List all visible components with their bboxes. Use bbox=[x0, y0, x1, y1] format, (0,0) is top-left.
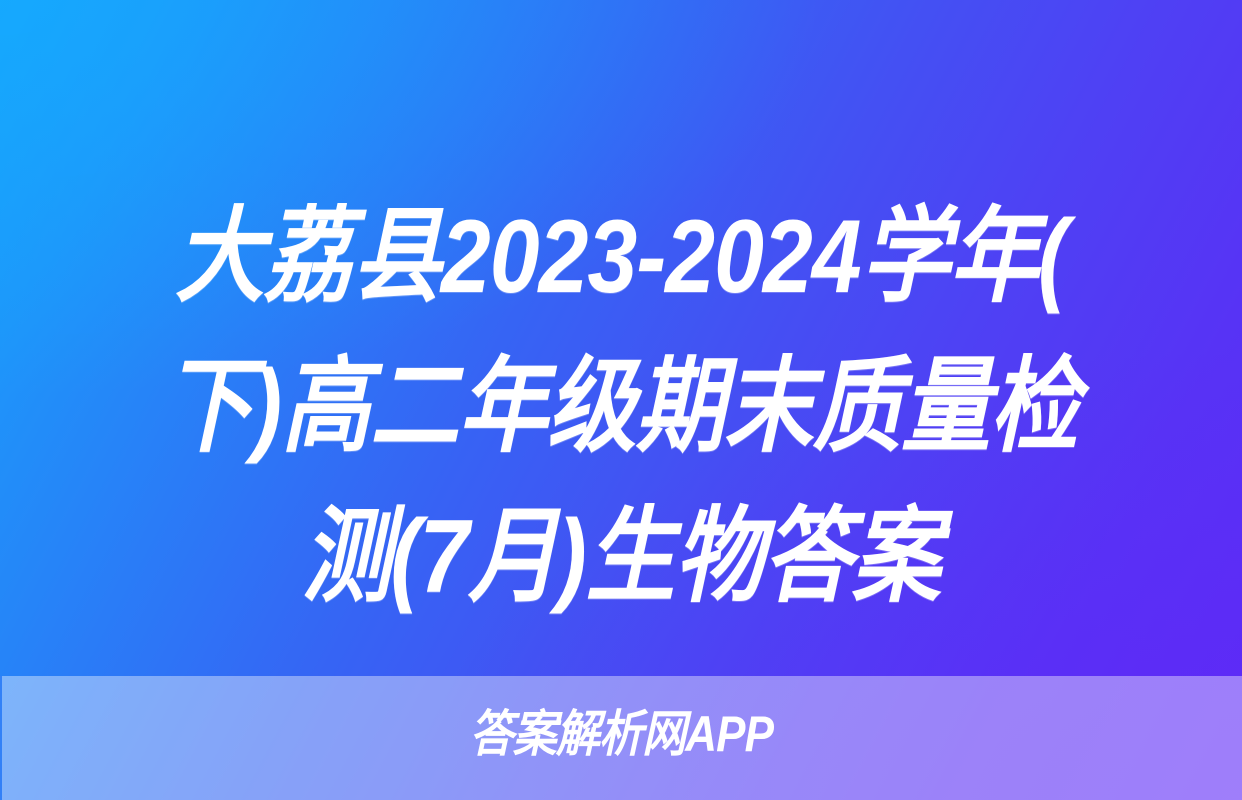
watermark-label: 答案解析网APP bbox=[469, 706, 772, 762]
title-line-2: 下)高二年级期末质量检 bbox=[87, 332, 1155, 482]
poster-canvas: 大荔县2023-2024学年( 下)高二年级期末质量检 测(7月)生物答案 答案… bbox=[0, 0, 1242, 800]
title-line-1: 大荔县2023-2024学年( bbox=[87, 182, 1155, 332]
watermark: 答案解析网APP bbox=[0, 706, 1242, 762]
poster-title: 大荔县2023-2024学年( 下)高二年级期末质量检 测(7月)生物答案 bbox=[0, 182, 1242, 632]
title-line-3: 测(7月)生物答案 bbox=[87, 482, 1155, 632]
